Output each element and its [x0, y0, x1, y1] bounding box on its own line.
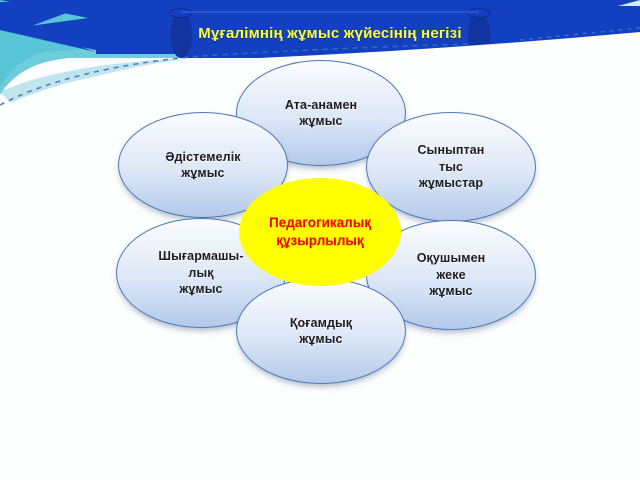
center-hub-label: Педагогикалық құзырлылық [269, 214, 371, 250]
slide-title-banner: Мұғалімнің жұмыс жүйесінің негізі [180, 12, 480, 54]
petal-label-extracurricular-work: Сыныптан тыс жұмыстар [412, 142, 491, 192]
petal-label-methodical-work: Әдістемелік жұмыс [159, 149, 246, 182]
petal-extracurricular-work[interactable]: Сыныптан тыс жұмыстар [366, 112, 536, 222]
petal-public-work[interactable]: Қоғамдық жұмыс [236, 278, 406, 384]
slide-canvas: Мұғалімнің жұмыс жүйесінің негізі Ата-ан… [0, 0, 640, 480]
petal-label-parent-work: Ата-анамен жұмыс [279, 97, 363, 130]
petal-label-creative-work: Шығармашы- лық жұмыс [152, 248, 249, 298]
center-hub-pedagogical-competence[interactable]: Педагогикалық құзырлылық [239, 178, 401, 286]
page-title: Мұғалімнің жұмыс жүйесінің негізі [198, 25, 461, 42]
petal-label-public-work: Қоғамдық жұмыс [284, 315, 358, 348]
petal-label-individual-student-work: Оқушымен жеке жұмыс [411, 250, 492, 300]
